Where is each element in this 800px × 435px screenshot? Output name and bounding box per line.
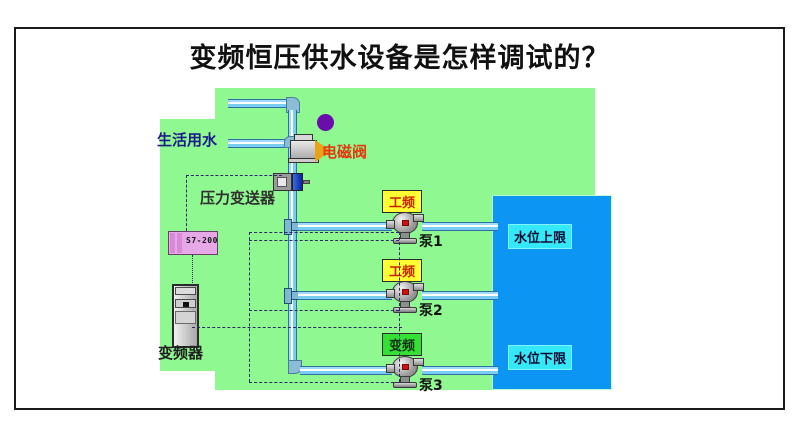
pump3-discharge-nozzle (413, 358, 424, 366)
pipe-top-feed (228, 99, 288, 108)
pump3-indicator (402, 364, 409, 370)
solenoid-valve-label: 电磁阀 (322, 141, 367, 162)
water-level-low-label: 水位下限 (508, 345, 572, 370)
pipe-to-pump3 (300, 366, 392, 375)
signal-line-plc-to-vfd (192, 255, 193, 285)
plc-terminal-strip-2 (177, 233, 182, 253)
signal-line-to-pump1 (249, 232, 399, 233)
vfd-keypad (175, 311, 196, 324)
pump2-suction-inlet (386, 289, 395, 298)
pump1-indicator (402, 220, 409, 226)
signal-line-pt-to-plc-horizontal (186, 175, 282, 176)
vfd-led-icon (183, 302, 189, 307)
vfd-label: 变频器 (158, 342, 203, 363)
process-diagram: 水位上限 水位下限 电磁阀 (0, 0, 800, 435)
pressure-transmitter-label: 压力变送器 (200, 187, 275, 208)
pipe-pump2-discharge (422, 291, 498, 300)
vfd-display (175, 299, 196, 308)
pipe-to-pump1 (298, 222, 392, 231)
signal-bus-vertical (249, 232, 250, 382)
pressure-transmitter-stem (303, 180, 310, 184)
pump1-discharge-nozzle (413, 214, 424, 222)
pump3-label: 泵3 (419, 375, 443, 395)
signal-line-vfd-bus (192, 327, 402, 328)
vfd-vent-panel (175, 287, 196, 295)
pump2-indicator (402, 289, 409, 295)
pump2-label: 泵2 (419, 300, 443, 320)
pipe-pump1-discharge (422, 222, 498, 231)
pipe-domestic-branch (228, 139, 290, 148)
plc-terminal-strip-1 (170, 233, 175, 253)
signal-line-pump1-alt (249, 240, 399, 241)
pressure-transmitter-display (277, 177, 287, 187)
pump2-discharge-nozzle (413, 283, 424, 291)
slide-canvas: 变频恒压供水设备是怎样调试的？ 水位上限 水位下限 (0, 0, 800, 435)
pump2-mode-badge: 工频 (382, 259, 422, 282)
pump1-suction-inlet (386, 220, 395, 229)
pump3-mode-badge: 变频 (382, 333, 422, 356)
signal-line-to-pump2 (249, 310, 399, 311)
water-level-high-label: 水位上限 (508, 224, 572, 249)
signal-line-pt-to-plc-vertical (186, 175, 187, 231)
plc-model-label: S7-200 (186, 236, 218, 245)
pipe-pump3-discharge (422, 366, 498, 375)
signal-line-to-pump3 (249, 382, 399, 383)
pump1-mode-badge: 工频 (382, 190, 422, 213)
purple-indicator-dot-icon (317, 114, 334, 131)
domestic-water-label: 生活用水 (157, 129, 217, 150)
pipe-to-pump2 (298, 291, 392, 300)
pump1-base (393, 238, 417, 244)
pressure-transmitter-sensor (292, 173, 303, 191)
solenoid-valve-body (290, 140, 317, 160)
signal-bus-pump-side (399, 232, 400, 382)
pump1-label: 泵1 (419, 231, 443, 251)
pump3-suction-inlet (386, 364, 395, 373)
